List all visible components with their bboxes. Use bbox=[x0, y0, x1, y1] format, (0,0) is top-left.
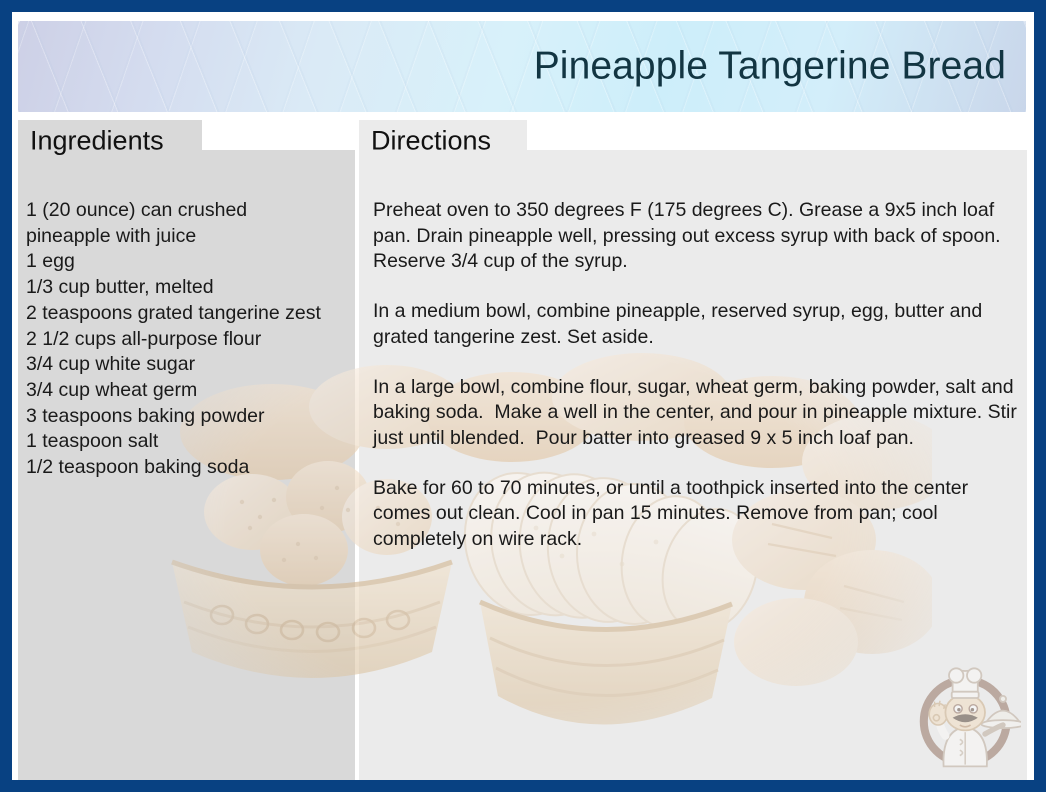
content-columns: Ingredients 1 (20 ounce) can crushedpine… bbox=[12, 120, 1034, 780]
ingredient-line: pineapple with juice bbox=[26, 224, 355, 250]
directions-tab: Directions bbox=[359, 120, 527, 162]
direction-step: In a large bowl, combine flour, sugar, w… bbox=[373, 375, 1017, 452]
ingredients-heading: Ingredients bbox=[30, 126, 164, 157]
direction-step: Bake for 60 to 70 minutes, or until a to… bbox=[373, 476, 1017, 553]
ingredient-line: 1/3 cup butter, melted bbox=[26, 275, 355, 301]
ingredient-line: 2 teaspoons grated tangerine zest bbox=[26, 301, 355, 327]
ingredient-line: 2 1/2 cups all-purpose flour bbox=[26, 327, 355, 353]
ingredient-line: 1 teaspoon salt bbox=[26, 429, 355, 455]
direction-step: Preheat oven to 350 degrees F (175 degre… bbox=[373, 198, 1017, 275]
ingredient-line: 3 teaspoons baking powder bbox=[26, 404, 355, 430]
page-title: Pineapple Tangerine Bread bbox=[534, 46, 1006, 87]
direction-step: In a medium bowl, combine pineapple, res… bbox=[373, 299, 1017, 350]
recipe-card: Pineapple Tangerine Bread Ingredients 1 … bbox=[0, 0, 1046, 792]
ingredient-line: 1 (20 ounce) can crushed bbox=[26, 198, 355, 224]
recipe-card-inner: Pineapple Tangerine Bread Ingredients 1 … bbox=[12, 12, 1034, 780]
ingredient-line: 1/2 teaspoon baking soda bbox=[26, 455, 355, 481]
ingredient-list: 1 (20 ounce) can crushedpineapple with j… bbox=[26, 198, 355, 481]
ingredient-line: 3/4 cup white sugar bbox=[26, 352, 355, 378]
directions-heading: Directions bbox=[371, 126, 491, 157]
ingredient-line: 1 egg bbox=[26, 249, 355, 275]
directions-panel: Directions Preheat oven to 350 degrees F… bbox=[359, 120, 1027, 780]
ingredients-panel: Ingredients 1 (20 ounce) can crushedpine… bbox=[18, 120, 355, 780]
ingredients-tab: Ingredients bbox=[18, 120, 202, 162]
title-banner: Pineapple Tangerine Bread bbox=[18, 21, 1026, 112]
direction-steps: Preheat oven to 350 degrees F (175 degre… bbox=[373, 198, 1017, 577]
ingredient-line: 3/4 cup wheat germ bbox=[26, 378, 355, 404]
